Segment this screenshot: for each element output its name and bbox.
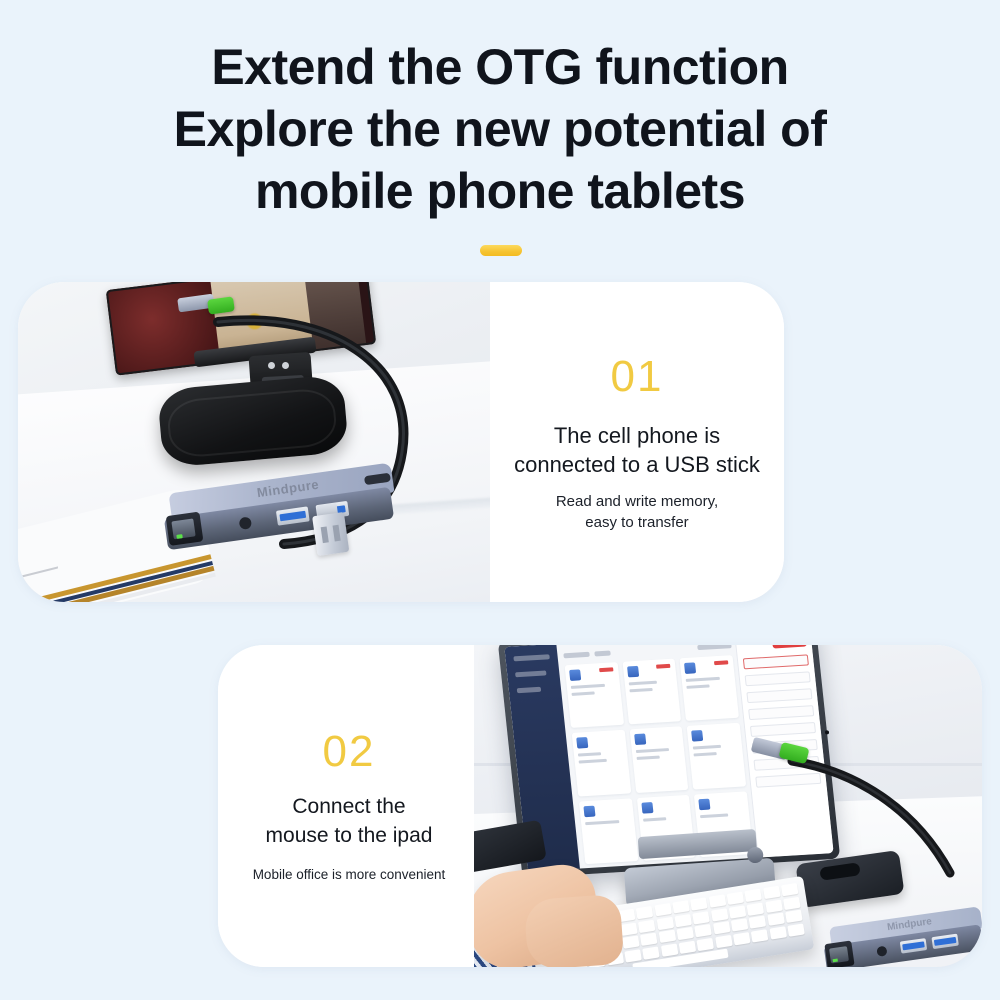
key <box>622 936 639 949</box>
tile-line <box>686 684 709 688</box>
key <box>749 916 766 929</box>
tile-line <box>628 681 657 686</box>
key <box>690 897 707 910</box>
hand-right <box>524 894 625 967</box>
tile-line <box>585 820 619 825</box>
tile-badge <box>599 667 613 672</box>
grid-tile <box>679 655 738 721</box>
accent-divider <box>480 245 522 256</box>
tile-line <box>629 688 652 692</box>
ethernet-led-icon <box>176 534 182 539</box>
key <box>781 883 798 896</box>
product-feature-banner: Extend the OTG function Explore the new … <box>0 0 1000 1000</box>
tile-icon <box>569 669 581 681</box>
panel-primary-button <box>772 645 807 649</box>
key <box>661 943 678 956</box>
tile-icon <box>684 662 696 674</box>
usb-flash-drive <box>311 502 350 556</box>
toolbar-chip <box>563 652 589 659</box>
feature-subtitle-01: Read and write memory, easy to transfer <box>556 491 718 533</box>
key <box>767 913 784 926</box>
key <box>745 889 762 902</box>
tile-icon <box>691 730 703 742</box>
tile-line <box>572 691 595 695</box>
key <box>679 941 696 954</box>
key <box>731 918 748 931</box>
key <box>783 896 800 909</box>
tile-icon <box>576 737 588 749</box>
key <box>763 886 780 899</box>
key <box>711 908 728 921</box>
key <box>733 932 750 945</box>
grid-tile <box>572 730 631 796</box>
page-title: Extend the OTG function Explore the new … <box>0 36 1000 222</box>
key <box>715 935 732 948</box>
sidebar-row <box>515 670 547 677</box>
panel-row <box>748 705 815 720</box>
grid-tile <box>687 723 746 789</box>
key <box>672 900 689 913</box>
key <box>697 938 714 951</box>
feature-card-02: 02 Connect the mouse to the ipad Mobile … <box>218 645 982 967</box>
tile-icon <box>634 734 646 746</box>
key <box>729 905 746 918</box>
feature-photo-tablet-mouse: Mindpure <box>474 645 982 967</box>
headline-line-2: Explore the new potential of <box>0 98 1000 160</box>
rj45-inner <box>171 518 195 539</box>
feature-card-01: Mindpure 01 The cell phone <box>18 282 784 602</box>
feature-subtitle-01-line1: Read and write memory, <box>556 493 718 510</box>
tile-line <box>636 756 659 760</box>
feature-number-02: 02 <box>323 730 376 774</box>
tile-badge <box>713 660 727 665</box>
grid-tile <box>629 727 688 793</box>
feature-text-01: 01 The cell phone is connected to a USB … <box>490 282 784 602</box>
key <box>658 930 675 943</box>
grid-tile <box>565 662 624 728</box>
key <box>624 949 641 962</box>
tile-line <box>686 677 720 682</box>
feature-title-02: Connect the mouse to the ipad <box>266 792 433 850</box>
feature-photo-phone-usb-stick: Mindpure <box>18 282 490 602</box>
feature-title-01-line2: connected to a USB stick <box>514 452 760 477</box>
feature-text-02: 02 Connect the mouse to the ipad Mobile … <box>218 645 480 967</box>
feature-number-01: 01 <box>611 355 664 399</box>
tile-line <box>642 817 665 821</box>
toolbar-chip <box>697 645 731 650</box>
sidebar-row <box>513 654 550 661</box>
tile-line <box>578 752 601 756</box>
feature-title-02-line2: mouse to the ipad <box>266 824 433 847</box>
key <box>727 892 744 905</box>
panel-row-selected <box>742 654 809 669</box>
feature-title-02-line1: Connect the <box>292 795 405 818</box>
toolbar-chip <box>594 650 611 656</box>
key <box>747 902 764 915</box>
sidebar-row <box>517 687 542 693</box>
key <box>751 929 768 942</box>
tile-line <box>694 752 717 756</box>
tile-icon <box>583 805 595 817</box>
key <box>693 911 710 924</box>
key <box>620 922 637 935</box>
tile-icon <box>627 666 639 678</box>
feature-title-01-line1: The cell phone is <box>554 423 720 448</box>
key <box>642 946 659 959</box>
tile-icon <box>698 798 710 810</box>
key <box>656 916 673 929</box>
usb-stick-body <box>312 512 349 556</box>
feature-title-01: The cell phone is connected to a USB sti… <box>514 421 760 479</box>
key <box>785 910 802 923</box>
key <box>654 903 671 916</box>
key <box>765 899 782 912</box>
key <box>638 919 655 932</box>
tile-line <box>571 684 605 689</box>
feature-subtitle-01-line2: easy to transfer <box>585 514 688 531</box>
feature-subtitle-02: Mobile office is more convenient <box>253 864 446 885</box>
key <box>640 933 657 946</box>
panel-row <box>744 671 811 686</box>
tile-line <box>635 748 669 753</box>
headline-line-1: Extend the OTG function <box>0 36 1000 98</box>
hub-card-slot <box>364 473 391 486</box>
tile-line <box>700 813 729 818</box>
key <box>695 924 712 937</box>
tile-line <box>693 745 722 750</box>
panel-row <box>749 722 816 737</box>
key <box>636 906 653 919</box>
tile-badge <box>656 664 670 669</box>
key <box>769 926 786 939</box>
grid-tile <box>622 659 681 725</box>
key <box>713 921 730 934</box>
key <box>787 923 804 936</box>
panel-row <box>746 688 813 703</box>
headline-line-3: mobile phone tablets <box>0 160 1000 222</box>
key <box>677 927 694 940</box>
key <box>709 894 726 907</box>
tile-line <box>579 759 608 764</box>
key <box>674 914 691 927</box>
tile-icon <box>641 802 653 814</box>
